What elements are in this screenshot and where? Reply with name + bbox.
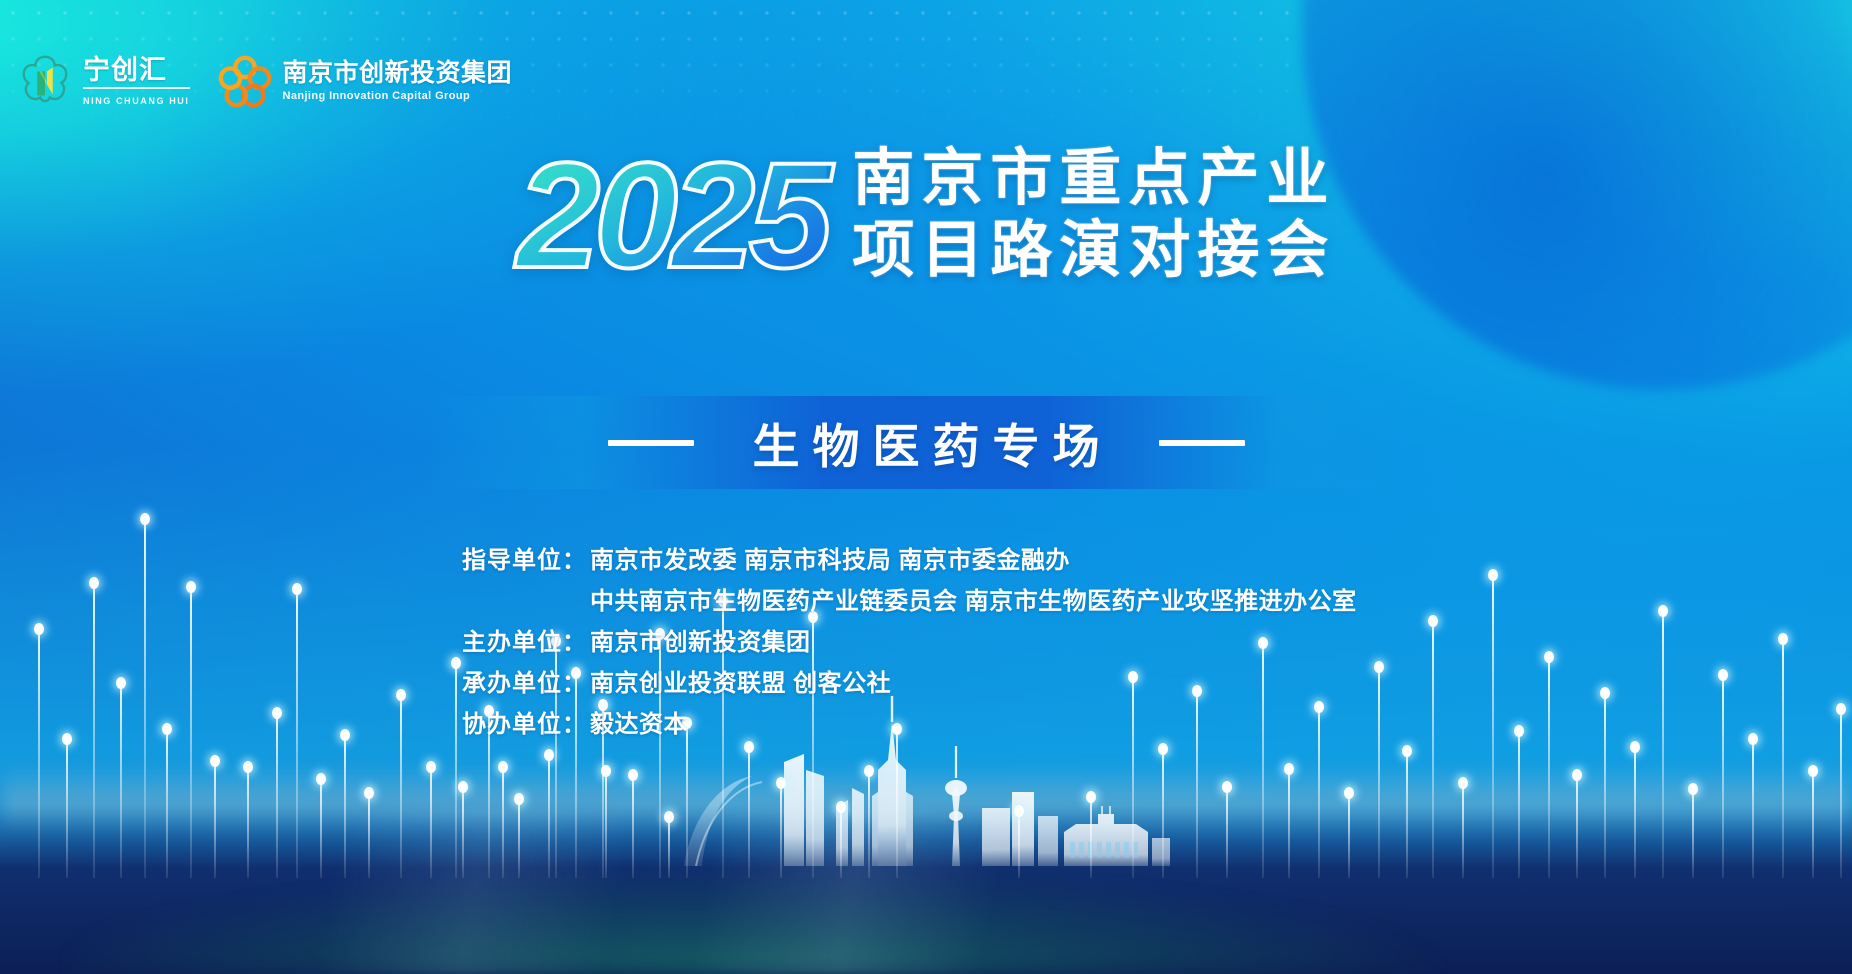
title-line-2: 项目路演对接会 [852,218,1335,284]
organizer-label: 协办单位： [462,704,590,739]
ning-chuang-hui-en: NING CHUANG HUI [83,97,190,106]
organizer-value: 南京创业投资联盟 创客公社 [590,663,891,698]
organizer-label: 指导单位： [462,540,590,575]
organizer-list: 指导单位：南京市发改委 南京市科技局 南京市委金融办指导单位：中共南京市生物医药… [462,540,1357,739]
ning-chuang-hui-cn: 宁创汇 [83,57,190,84]
subtitle-band: 生物医药专场 [421,396,1431,489]
title-chinese-block: 南京市重点产业 项目路演对接会 [852,146,1335,285]
dash-right-icon [1159,440,1245,446]
main-title: 2025 南京市重点产业 项目路演对接会 [517,140,1336,290]
dash-left-icon [608,440,694,446]
poster-canvas: 宁创汇 NING CHUANG HUI 南京市创新投资集团 [0,0,1852,974]
organizer-row: 指导单位：南京市发改委 南京市科技局 南京市委金融办 [462,540,1357,575]
organizer-label: 承办单位： [462,663,590,698]
organizer-row: 指导单位：中共南京市生物医药产业链委员会 南京市生物医药产业攻坚推进办公室 [462,581,1357,616]
nicg-en: Nanjing Innovation Capital Group [283,91,513,102]
organizer-value: 南京市创新投资集团 [590,622,811,657]
nanjing-innovation-capital-group-logo[interactable]: 南京市创新投资集团 Nanjing Innovation Capital Gro… [216,52,513,110]
title-line-1: 南京市重点产业 [852,146,1335,212]
ning-chuang-hui-wordmark: 宁创汇 NING CHUANG HUI [83,57,190,106]
nicg-wordmark: 南京市创新投资集团 Nanjing Innovation Capital Gro… [283,61,513,102]
organizer-value: 毅达资本 [590,704,688,739]
organizer-row: 承办单位：南京创业投资联盟 创客公社 [462,663,1357,698]
nicg-cn: 南京市创新投资集团 [283,61,513,86]
organizer-value: 中共南京市生物医药产业链委员会 南京市生物医药产业攻坚推进办公室 [590,581,1357,616]
plum-blossom-knot-icon [216,52,274,110]
header-logo-group: 宁创汇 NING CHUANG HUI 南京市创新投资集团 [16,52,512,110]
flower-n-icon [16,52,74,110]
ning-chuang-hui-logo[interactable]: 宁创汇 NING CHUANG HUI [16,52,190,110]
organizer-row: 主办单位：南京市创新投资集团 [462,622,1357,657]
title-year: 2025 [517,140,827,290]
organizer-value: 南京市发改委 南京市科技局 南京市委金融办 [590,540,1070,575]
organizer-label: 主办单位： [462,622,590,657]
organizer-row: 协办单位：毅达资本 [462,704,1357,739]
ning-chuang-hui-rule [83,87,190,89]
subtitle-text: 生物医药专场 [740,408,1113,477]
